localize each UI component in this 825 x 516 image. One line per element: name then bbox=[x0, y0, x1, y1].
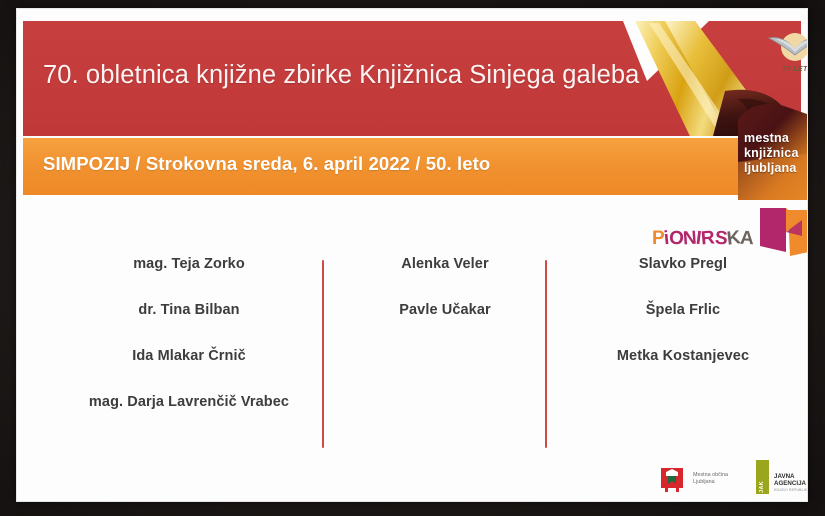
column-divider-1 bbox=[322, 260, 324, 448]
jak-logo-subtext: KNJIGO REPUBLIKE SLOVENIJE bbox=[774, 488, 808, 492]
mkl-line-2: knjižnica bbox=[744, 146, 799, 161]
pionirska-letter: R bbox=[700, 227, 715, 250]
column-divider-2 bbox=[545, 260, 547, 448]
mol-logo-text: Mestna občina Ljubljana bbox=[693, 472, 728, 486]
speaker-name: Metka Kostanjevec bbox=[568, 348, 798, 364]
speaker-name: dr. Tina Bilban bbox=[55, 302, 323, 318]
speaker-name: Ida Mlakar Črnič bbox=[55, 348, 323, 364]
jak-line-1: JAVNA bbox=[774, 473, 808, 480]
speaker-columns: mag. Teja Zorkodr. Tina BilbanIda Mlakar… bbox=[23, 256, 801, 456]
speaker-name: mag. Darja Lavrenčič Vrabec bbox=[55, 394, 323, 410]
jak-line-2: AGENCIJA ZA bbox=[774, 480, 808, 487]
mol-line-2: Ljubljana bbox=[693, 479, 728, 486]
pionirska-letter: A bbox=[740, 228, 754, 250]
jak-logo-text: JAVNA AGENCIJA ZA bbox=[774, 473, 808, 488]
javna-agencija-za-knjigo-logo: JAK JAVNA AGENCIJA ZA KNJIGO REPUBLIKE S… bbox=[756, 460, 808, 498]
pionirska-logo: PiONIRSKA bbox=[652, 206, 808, 262]
speaker-column-1: mag. Teja Zorkodr. Tina BilbanIda Mlakar… bbox=[55, 256, 323, 440]
speaker-column-3: Slavko PreglŠpela FrlicMetka Kostanjevec bbox=[568, 256, 798, 394]
badge-label: 70 LET bbox=[764, 66, 808, 73]
jak-green-bar: JAK bbox=[756, 460, 769, 494]
mestna-obcina-ljubljana-icon bbox=[661, 468, 683, 492]
mkl-line-1: mestna bbox=[744, 131, 799, 146]
video-frame: 70. obletnica knjižne zbirke Knjižnica S… bbox=[0, 0, 825, 516]
speaker-name: Slavko Pregl bbox=[568, 256, 798, 272]
event-subtitle: SIMPOZIJ / Strokovna sreda, 6. april 202… bbox=[43, 153, 490, 175]
subtitle-orange-band: SIMPOZIJ / Strokovna sreda, 6. april 202… bbox=[23, 138, 801, 195]
speaker-name: Špela Frlic bbox=[568, 302, 798, 318]
speaker-column-2: Alenka VelerPavle Učakar bbox=[345, 256, 545, 348]
mkl-logo-text: mestna knjižnica ljubljana bbox=[744, 131, 799, 176]
presentation-slide: 70. obletnica knjižne zbirke Knjižnica S… bbox=[16, 8, 808, 502]
jak-bar-label: JAK bbox=[759, 473, 765, 501]
header-red-band: 70. obletnica knjižne zbirke Knjižnica S… bbox=[23, 21, 801, 136]
mol-line-1: Mestna občina bbox=[693, 472, 728, 479]
speaker-name: Pavle Učakar bbox=[345, 302, 545, 318]
mkl-line-3: ljubljana bbox=[744, 161, 799, 176]
anniversary-badge: 70 LET bbox=[764, 26, 808, 74]
speaker-name: mag. Teja Zorko bbox=[55, 256, 323, 272]
mestna-knjiznica-ljubljana-logo: mestna knjižnica ljubljana bbox=[738, 104, 808, 200]
footer-logos: Mestna občina Ljubljana JAK JAVNA AGENCI… bbox=[646, 466, 808, 500]
speaker-name: Alenka Veler bbox=[345, 256, 545, 272]
page-title: 70. obletnica knjižne zbirke Knjižnica S… bbox=[43, 61, 639, 90]
pionirska-wordmark: PiONIRSKA bbox=[652, 228, 753, 250]
